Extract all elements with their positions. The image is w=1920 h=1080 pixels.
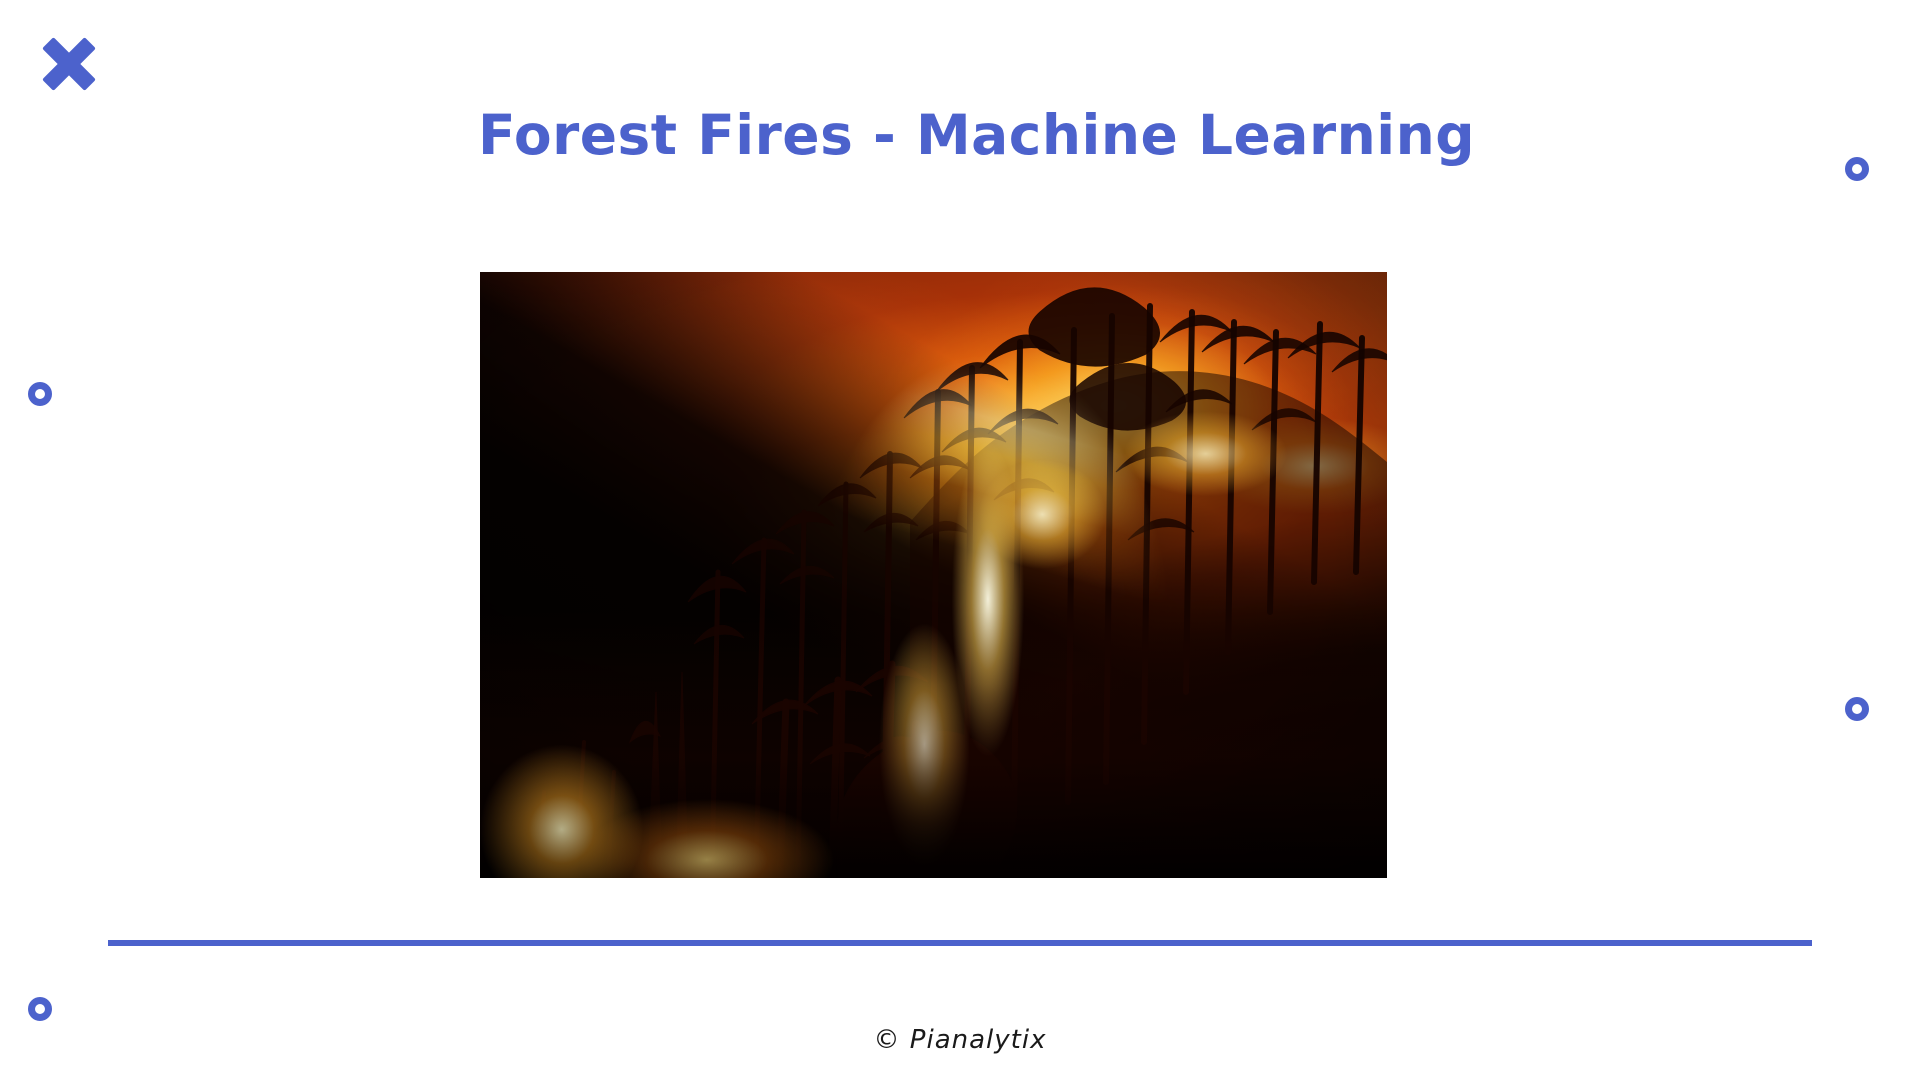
footer-credit: © Pianalytix [0,1025,1920,1055]
divider-rule [108,940,1812,946]
slide-title: Forest Fires - Machine Learning [478,104,1475,166]
decor-dot-right-middle [1845,697,1869,721]
close-x-icon[interactable] [42,37,96,91]
decor-dot-left-bottom [28,997,52,1021]
decor-dot-left-middle [28,382,52,406]
slide-canvas: Forest Fires - Machine Learning [0,0,1920,1080]
vignette-layer [480,272,1387,878]
decor-dot-right-top [1845,157,1869,181]
forest-fire-image [480,272,1387,878]
